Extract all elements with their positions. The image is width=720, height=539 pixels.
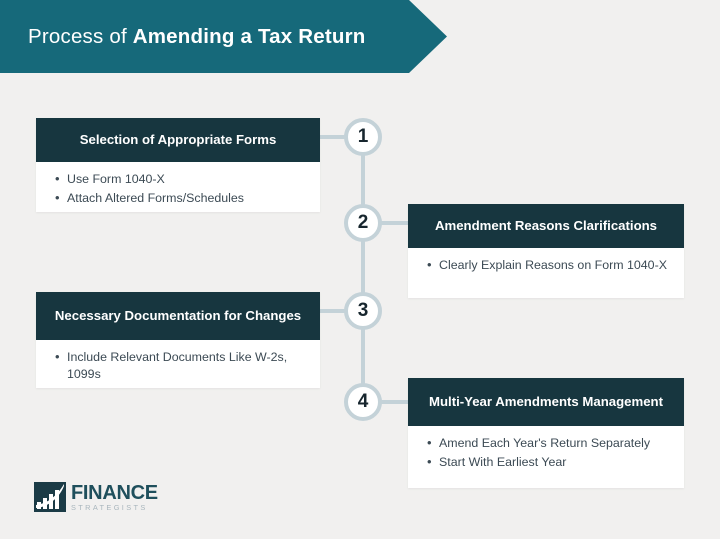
- logo-subtitle: STRATEGISTS: [71, 504, 158, 511]
- header-banner: Process of Amending a Tax Return: [0, 0, 447, 73]
- step-card-1[interactable]: Selection of Appropriate Forms Use Form …: [36, 118, 320, 212]
- finance-strategists-logo-icon: [34, 482, 66, 512]
- step-card-1-body: Use Form 1040-X Attach Altered Forms/Sch…: [36, 162, 320, 212]
- step-card-2-body: Clearly Explain Reasons on Form 1040-X: [408, 248, 684, 298]
- step-card-2-title: Amendment Reasons Clarifications: [408, 204, 684, 248]
- list-item: Start With Earliest Year: [439, 454, 670, 471]
- step-card-1-bullet-list: Use Form 1040-X Attach Altered Forms/Sch…: [50, 171, 306, 206]
- list-item: Amend Each Year's Return Separately: [439, 435, 670, 452]
- step-card-3-title: Necessary Documentation for Changes: [36, 292, 320, 340]
- list-item: Include Relevant Documents Like W-2s, 10…: [67, 349, 306, 382]
- step-card-4-body: Amend Each Year's Return Separately Star…: [408, 426, 684, 488]
- list-item: Attach Altered Forms/Schedules: [67, 190, 306, 207]
- page-title-plain: Process of: [28, 25, 133, 48]
- step-circle-2[interactable]: 2: [344, 204, 382, 242]
- step-card-2[interactable]: Amendment Reasons Clarifications Clearly…: [408, 204, 684, 298]
- step-card-3[interactable]: Necessary Documentation for Changes Incl…: [36, 292, 320, 388]
- step-card-4-bullet-list: Amend Each Year's Return Separately Star…: [422, 435, 670, 470]
- step-card-4[interactable]: Multi-Year Amendments Management Amend E…: [408, 378, 684, 488]
- step-card-4-title: Multi-Year Amendments Management: [408, 378, 684, 426]
- step-number-2: 2: [358, 212, 369, 234]
- step-circle-4[interactable]: 4: [344, 383, 382, 421]
- logo-name: FINANCE: [71, 483, 158, 503]
- step-card-2-bullet-list: Clearly Explain Reasons on Form 1040-X: [422, 257, 670, 274]
- list-item: Clearly Explain Reasons on Form 1040-X: [439, 257, 670, 274]
- step-card-3-bullet-list: Include Relevant Documents Like W-2s, 10…: [50, 349, 306, 382]
- page-title: Process of Amending a Tax Return: [0, 25, 366, 49]
- step-circle-1[interactable]: 1: [344, 118, 382, 156]
- timeline-spine: [361, 137, 365, 403]
- step-circle-3[interactable]: 3: [344, 292, 382, 330]
- brand-logo[interactable]: FINANCE STRATEGISTS: [34, 482, 158, 512]
- page-title-strong: Amending a Tax Return: [133, 25, 366, 48]
- step-card-3-body: Include Relevant Documents Like W-2s, 10…: [36, 340, 320, 388]
- list-item: Use Form 1040-X: [67, 171, 306, 188]
- step-card-1-title: Selection of Appropriate Forms: [36, 118, 320, 162]
- step-number-1: 1: [358, 126, 369, 148]
- logo-wordmark: FINANCE STRATEGISTS: [71, 483, 158, 511]
- step-number-4: 4: [358, 391, 369, 413]
- step-number-3: 3: [358, 300, 369, 322]
